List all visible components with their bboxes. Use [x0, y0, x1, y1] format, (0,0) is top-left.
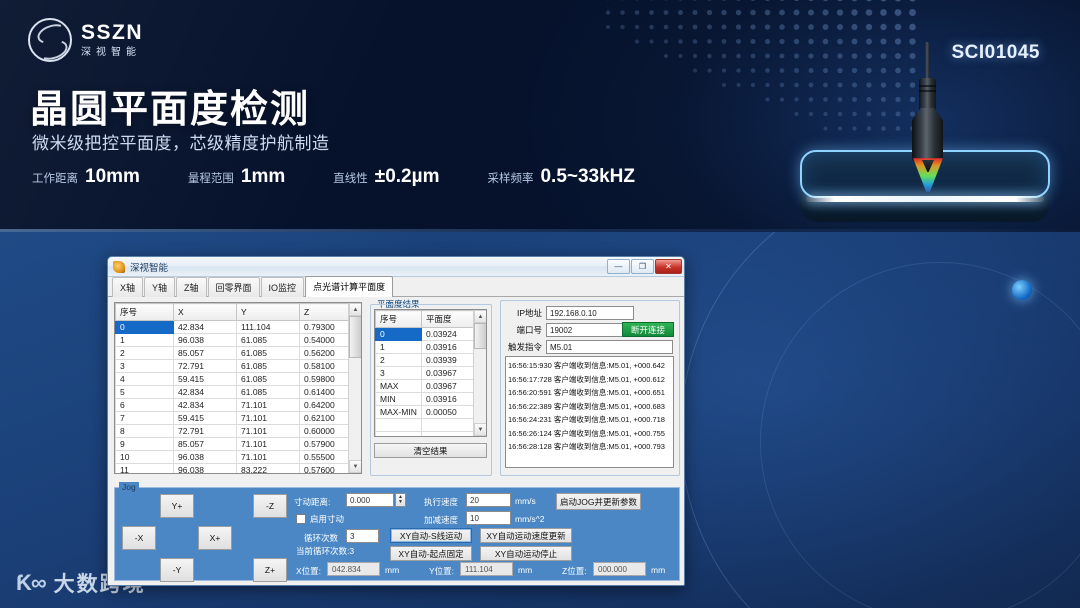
table-cell: 3 [116, 360, 174, 373]
flatness-table-body: 00.0392410.0391620.0393930.03967MAX0.039… [376, 328, 486, 438]
x-position-value: 042.834 [327, 562, 380, 576]
jog-x-plus-button[interactable]: X+ [198, 526, 232, 550]
jog-control-group: Jog Y+ -Z -X X+ -Y Z+ 寸动距离: 0.000 ▲▼ 启用寸… [114, 483, 680, 581]
table-row[interactable]: 459.41561.0850.59800 [116, 373, 361, 386]
table-cell: 9 [116, 438, 174, 451]
scroll-thumb[interactable] [349, 316, 362, 358]
spec-value-0: 10mm [85, 166, 140, 188]
spec-label-2: 直线性 [333, 170, 368, 186]
table-cell: 7 [116, 412, 174, 425]
enable-step-checkbox[interactable]: 启用寸动 [296, 513, 344, 525]
table-cell: 1 [376, 341, 422, 354]
window-titlebar[interactable]: 深视智能 — ❐ ✕ [108, 257, 684, 277]
xy-auto-stop-button[interactable]: XY自动运动停止 [480, 546, 572, 561]
table-cell: MIN [376, 393, 422, 406]
table-cell: 59.415 [174, 373, 237, 386]
app-icon [113, 261, 125, 273]
accel-input[interactable]: 10 [466, 511, 511, 525]
tab-spectral-flatness[interactable]: 点光谱计算平面度 [305, 276, 393, 297]
table-cell: 71.101 [237, 438, 300, 451]
table-row[interactable]: 196.03861.0850.54000 [116, 334, 361, 347]
point-table-body: 042.834111.1040.79300196.03861.0850.5400… [116, 321, 361, 475]
sszn-logo-icon [28, 18, 72, 62]
ip-input[interactable]: 192.168.0.10 [546, 306, 634, 320]
flatness-result-group: 平面度结果 序号 平面度 00.0392410.0391620.0393930.… [370, 298, 492, 478]
xy-auto-speed-update-button[interactable]: XY自动运动速度更新 [480, 528, 572, 543]
spec-value-2: ±0.2µm [375, 166, 440, 188]
log-line: 16:56:17:728 客户端收到信息:M5.01, +000.612 [508, 373, 673, 387]
speed-unit: mm/s [515, 496, 536, 506]
xy-auto-s-motion-button[interactable]: XY自动-S线运动 [390, 528, 472, 543]
window-title: 深视智能 [130, 260, 606, 274]
step-distance-input[interactable]: 0.000 [346, 493, 394, 507]
loop-count-input[interactable]: 3 [346, 529, 379, 543]
table-cell: 71.101 [237, 412, 300, 425]
table-row[interactable] [376, 419, 486, 432]
table-cell: 71.101 [237, 451, 300, 464]
table-row[interactable]: 10.03916 [376, 341, 486, 354]
ip-label: IP地址 [504, 307, 542, 319]
spec-label-1: 量程范围 [188, 170, 234, 186]
checkbox-box-icon [296, 514, 306, 524]
log-line: 16:56:15:930 客户端收到信息:M5.01, +000.642 [508, 359, 673, 373]
jog-group-title: Jog [119, 482, 139, 492]
y-position-label: Y位置: [429, 565, 454, 577]
enable-step-label: 启用寸动 [310, 513, 344, 525]
table-row[interactable]: 1096.03871.1010.55500 [116, 451, 361, 464]
scroll-down-icon[interactable]: ▼ [349, 460, 362, 473]
loop-count-label: 循环次数 [304, 532, 338, 544]
table-row[interactable]: 985.05771.1010.57900 [116, 438, 361, 451]
scroll-down-icon[interactable]: ▼ [474, 423, 487, 436]
log-line: 16:56:28:128 客户端收到信息:M5.01, +000.793 [508, 440, 673, 454]
flatness-header-row: 序号 平面度 [376, 311, 486, 328]
table-row[interactable]: 542.83461.0850.61400 [116, 386, 361, 399]
command-label: 触发指令 [504, 341, 542, 353]
banner-headline: 晶圆平面度检测 [30, 78, 310, 133]
table-row[interactable]: 642.83471.1010.64200 [116, 399, 361, 412]
log-line: 16:56:26:124 客户端收到信息:M5.01, +000.755 [508, 427, 673, 441]
tab-homing[interactable]: 回零界面 [208, 277, 260, 297]
jog-x-minus-button[interactable]: -X [122, 526, 156, 550]
y-position-unit: mm [518, 565, 532, 575]
jog-z-plus-button[interactable]: Z+ [253, 558, 287, 582]
table-row[interactable]: 20.03939 [376, 354, 486, 367]
tab-strip: X轴 Y轴 Z轴 回零界面 IO监控 点光谱计算平面度 [108, 277, 684, 297]
table-row[interactable]: 372.79161.0850.58100 [116, 360, 361, 373]
banner-subhead: 微米级把控平面度，芯级精度护航制造 [32, 129, 330, 154]
table-cell: 61.085 [237, 334, 300, 347]
x-position-label: X位置: [296, 565, 321, 577]
table-row[interactable]: 042.834111.1040.79300 [116, 321, 361, 334]
tab-y-axis[interactable]: Y轴 [144, 277, 175, 297]
speed-label: 执行速度 [424, 496, 458, 508]
flatness-vertical-scrollbar[interactable]: ▲ ▼ [473, 310, 486, 436]
table-cell: 71.101 [237, 399, 300, 412]
x-position-unit: mm [385, 565, 399, 575]
table-cell [376, 432, 422, 438]
logo-text: SSZN 深视智能 [81, 22, 143, 58]
spec-list: 工作距离 10mm 量程范围 1mm 直线性 ±0.2µm 采样频率 0.5~3… [32, 166, 635, 188]
table-row[interactable]: 872.79171.1010.60000 [116, 425, 361, 438]
z-position-unit: mm [651, 565, 665, 575]
spec-item-1: 量程范围 1mm [188, 166, 285, 188]
table-cell [376, 419, 422, 432]
table-cell: 111.104 [237, 321, 300, 334]
table-header-row: 序号 X Y Z [116, 304, 361, 321]
speed-input[interactable]: 20 [466, 493, 511, 507]
table-cell: 10 [116, 451, 174, 464]
communication-group: IP地址 192.168.0.10 端口号 19002 断开连接 触发指令 M5… [500, 298, 680, 478]
table-cell: 59.415 [174, 412, 237, 425]
sensor-model-label: SCI01045 [951, 42, 1040, 64]
table-cell: 85.057 [174, 347, 237, 360]
table-cell: 42.834 [174, 321, 237, 334]
current-loop-label: 当前循环次数:3 [296, 545, 354, 557]
start-jog-update-params-button[interactable]: 启动JOG并更新参数 [556, 493, 641, 510]
spec-value-3: 0.5~33kHZ [540, 166, 635, 188]
table-row[interactable]: 1196.03883.2220.57600 [116, 464, 361, 475]
clear-results-button[interactable]: 清空结果 [374, 443, 487, 458]
spec-item-2: 直线性 ±0.2µm [333, 166, 439, 188]
jog-z-minus-button[interactable]: -Z [253, 494, 287, 518]
table-row[interactable]: MAX-MIN0.00050 [376, 406, 486, 419]
logo-en-text: SSZN [81, 22, 143, 43]
step-distance-spinner[interactable]: ▲▼ [395, 493, 406, 507]
ip-field-row: IP地址 192.168.0.10 [504, 306, 634, 320]
y-position-value: 111.104 [460, 562, 513, 576]
table-cell: 61.085 [237, 347, 300, 360]
table-cell: 42.834 [174, 386, 237, 399]
close-button[interactable]: ✕ [655, 259, 682, 274]
message-log[interactable]: 16:56:15:930 客户端收到信息:M5.01, +000.64216:5… [505, 356, 674, 468]
table-cell: 11 [116, 464, 174, 475]
spec-label-3: 采样频率 [487, 170, 533, 186]
jog-y-plus-button[interactable]: Y+ [160, 494, 194, 518]
table-row[interactable] [376, 432, 486, 438]
table-row[interactable]: 30.03967 [376, 367, 486, 380]
logo-cn-text: 深视智能 [81, 48, 143, 58]
xy-auto-origin-fixed-button[interactable]: XY自动-起点固定 [390, 546, 472, 561]
spec-value-1: 1mm [241, 166, 285, 188]
col-y[interactable]: Y [237, 304, 300, 321]
accel-unit: mm/s^2 [515, 514, 545, 524]
spec-item-0: 工作距离 10mm [32, 166, 140, 188]
table-row[interactable]: 759.41571.1010.62100 [116, 412, 361, 425]
table-cell: 4 [116, 373, 174, 386]
table-cell: 2 [376, 354, 422, 367]
point-data-grid[interactable]: 序号 X Y Z 042.834111.1040.79300196.03861.… [114, 302, 362, 474]
probe-neck [919, 78, 936, 112]
flatness-table-panel[interactable]: 序号 平面度 00.0392410.0391620.0393930.03967M… [374, 309, 487, 437]
table-cell: 85.057 [174, 438, 237, 451]
port-field-row: 端口号 19002 [504, 323, 634, 337]
company-logo: SSZN 深视智能 [28, 18, 143, 62]
table-cell: 72.791 [174, 360, 237, 373]
table-row[interactable]: MIN0.03916 [376, 393, 486, 406]
table-cell: MAX-MIN [376, 406, 422, 419]
col-flat-index[interactable]: 序号 [376, 311, 422, 328]
col-index[interactable]: 序号 [116, 304, 174, 321]
wafer-glow-line [806, 196, 1044, 202]
table-row[interactable]: 00.03924 [376, 328, 486, 341]
table-cell: 8 [116, 425, 174, 438]
z-position-value: 000.000 [593, 562, 646, 576]
scroll-up-icon[interactable]: ▲ [349, 303, 362, 316]
scroll-thumb[interactable] [474, 323, 487, 349]
step-distance-label: 寸动距离: [294, 496, 330, 508]
table-cell: 61.085 [237, 386, 300, 399]
z-position-label: Z位置: [562, 565, 587, 577]
table-cell: 72.791 [174, 425, 237, 438]
table-cell: 0 [376, 328, 422, 341]
accel-label: 加减速度 [424, 514, 458, 526]
table-cell: 3 [376, 367, 422, 380]
table-cell: 96.038 [174, 464, 237, 475]
hero-banner: SSZN 深视智能 晶圆平面度检测 微米级把控平面度，芯级精度护航制造 工作距离… [0, 0, 1080, 232]
table-cell: 61.085 [237, 360, 300, 373]
tab-io-monitor[interactable]: IO监控 [261, 277, 305, 297]
scroll-up-icon[interactable]: ▲ [474, 310, 487, 323]
port-input[interactable]: 19002 [546, 323, 634, 337]
table-cell: 2 [116, 347, 174, 360]
probe-body [912, 108, 943, 164]
jog-y-minus-button[interactable]: -Y [160, 558, 194, 582]
application-window: 深视智能 — ❐ ✕ X轴 Y轴 Z轴 回零界面 IO监控 点光谱计算平面度 序… [107, 256, 685, 586]
table-cell: 96.038 [174, 334, 237, 347]
table-cell: 6 [116, 399, 174, 412]
spec-label-0: 工作距离 [32, 170, 78, 186]
maximize-button[interactable]: ❐ [631, 259, 654, 274]
table-cell: 0 [116, 321, 174, 334]
table-cell: 96.038 [174, 451, 237, 464]
probe-cable [925, 42, 929, 82]
tab-x-axis[interactable]: X轴 [112, 277, 143, 297]
log-line: 16:56:22:389 客户端收到信息:M5.01, +000.683 [508, 400, 673, 414]
table-row[interactable]: MAX0.03967 [376, 380, 486, 393]
log-line: 16:56:24:231 客户端收到信息:M5.01, +000.718 [508, 413, 673, 427]
sensor-illustration: SCI01045 [792, 0, 1062, 232]
grid-vertical-scrollbar[interactable]: ▲ ▼ [348, 303, 361, 473]
flatness-table: 序号 平面度 00.0392410.0391620.0393930.03967M… [375, 310, 486, 437]
table-cell: 42.834 [174, 399, 237, 412]
watermark-icon: Ƙ∞ [16, 570, 46, 596]
table-cell: 5 [116, 386, 174, 399]
table-cell: 1 [116, 334, 174, 347]
point-table: 序号 X Y Z 042.834111.1040.79300196.03861.… [115, 303, 361, 474]
table-cell: 83.222 [237, 464, 300, 475]
port-label: 端口号 [504, 324, 542, 336]
col-x[interactable]: X [174, 304, 237, 321]
decorative-dot [1012, 280, 1032, 300]
work-area: 序号 X Y Z 042.834111.1040.79300196.03861.… [108, 297, 684, 585]
command-field-row: 触发指令 M5.01 [504, 340, 673, 354]
log-line: 16:56:20:591 客户端收到信息:M5.01, +000.651 [508, 386, 673, 400]
spec-item-3: 采样频率 0.5~33kHZ [487, 166, 635, 188]
minimize-button[interactable]: — [607, 259, 630, 274]
command-input[interactable]: M5.01 [546, 340, 673, 354]
table-cell: 71.101 [237, 425, 300, 438]
tab-z-axis[interactable]: Z轴 [176, 277, 207, 297]
disconnect-button[interactable]: 断开连接 [622, 322, 674, 337]
table-cell: 61.085 [237, 373, 300, 386]
table-row[interactable]: 285.05761.0850.56200 [116, 347, 361, 360]
table-cell: MAX [376, 380, 422, 393]
